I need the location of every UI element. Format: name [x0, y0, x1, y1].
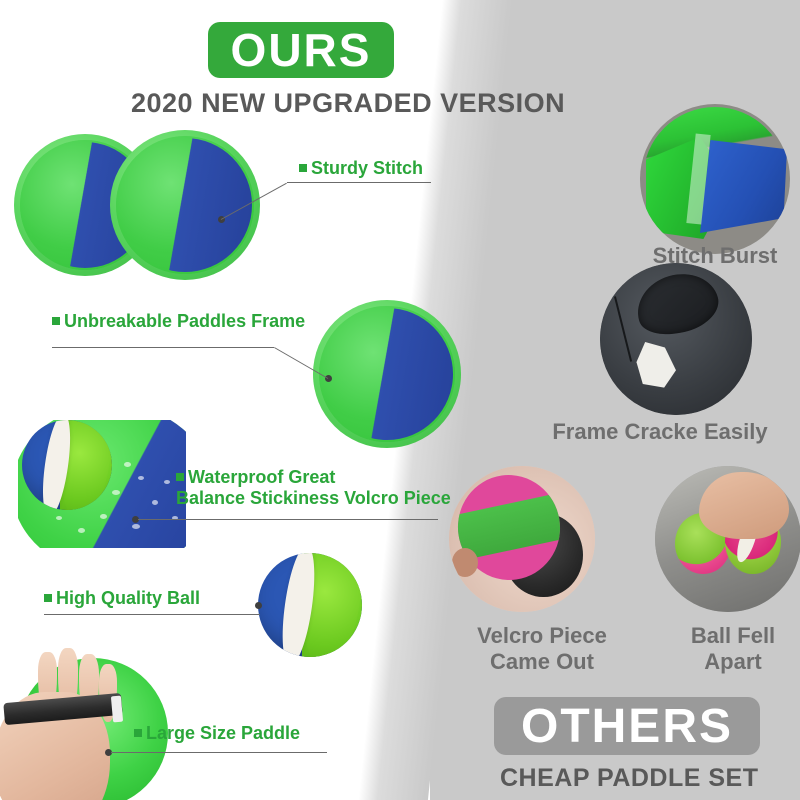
- others-badge: OTHERS: [494, 697, 760, 755]
- blue-fabric: [700, 140, 787, 233]
- defect-photo-frame-crack: [600, 263, 752, 415]
- hand-finger: [452, 548, 478, 577]
- water-droplet: [152, 500, 158, 505]
- callout-line-high-quality-ball: [44, 614, 260, 615]
- water-droplet: [78, 528, 85, 533]
- feature-label-waterproof-line2: Balance Stickiness Volcro Piece: [176, 488, 451, 509]
- water-droplet: [138, 476, 144, 480]
- others-subtitle: CHEAP PADDLE SET: [500, 764, 759, 793]
- ball-image: [258, 553, 362, 657]
- ours-subtitle: 2020 NEW UPGRADED VERSION: [131, 88, 565, 119]
- photo-content: [600, 263, 752, 415]
- wet-paddle-photo: [18, 420, 186, 548]
- feature-label-large-size-paddle: Large Size Paddle: [134, 723, 300, 744]
- paddle-strap-end: [111, 696, 123, 723]
- ball-on-paddle: [22, 420, 112, 510]
- callout-line-large-size-paddle: [111, 752, 327, 753]
- paddle-image-single: [313, 300, 461, 448]
- water-droplet: [164, 480, 170, 484]
- product-comparison-infographic: OURS 2020 NEW UPGRADED VERSION Sturdy St…: [0, 0, 800, 800]
- bullet-icon: [134, 729, 142, 737]
- photo-content: [655, 466, 800, 612]
- feature-label-high-quality-ball: High Quality Ball: [44, 588, 200, 609]
- feature-label-unbreakable-frame: Unbreakable Paddles Frame: [52, 311, 305, 332]
- paddle-velcro-patch: [321, 308, 453, 440]
- bullet-icon: [52, 317, 60, 325]
- defect-photo-stitch-burst: [640, 104, 790, 254]
- photo-content: [640, 104, 790, 254]
- feature-label-waterproof: Waterproof Great Balance Stickiness Volc…: [176, 467, 451, 508]
- defect-label-ball-fell-apart: Ball Fell Apart: [648, 623, 800, 675]
- defect-label-frame-crack: Frame Cracke Easily: [520, 419, 800, 445]
- photo-content: [449, 466, 595, 612]
- water-droplet: [100, 514, 107, 519]
- water-droplet: [112, 490, 120, 495]
- callout-line-unbreakable-frame: [52, 347, 274, 348]
- defect-label-velcro-came-out: Velcro Piece Came Out: [442, 623, 642, 675]
- ours-badge: OURS: [208, 22, 394, 78]
- bullet-icon: [176, 473, 184, 481]
- callout-line-sturdy-stitch: [287, 182, 431, 183]
- feature-label-sturdy-stitch: Sturdy Stitch: [299, 158, 423, 179]
- defect-photo-ball-fell-apart: [655, 466, 800, 612]
- paddle-image-right: [110, 130, 260, 280]
- paddle-velcro-patch: [118, 138, 252, 272]
- water-droplet: [132, 524, 140, 529]
- bullet-icon: [299, 164, 307, 172]
- water-droplet: [124, 462, 131, 467]
- water-droplet: [56, 516, 62, 520]
- defect-photo-velcro-came-out: [449, 466, 595, 612]
- callout-line-waterproof: [138, 519, 438, 520]
- bullet-icon: [44, 594, 52, 602]
- callout-dot-high-quality-ball: [255, 602, 262, 609]
